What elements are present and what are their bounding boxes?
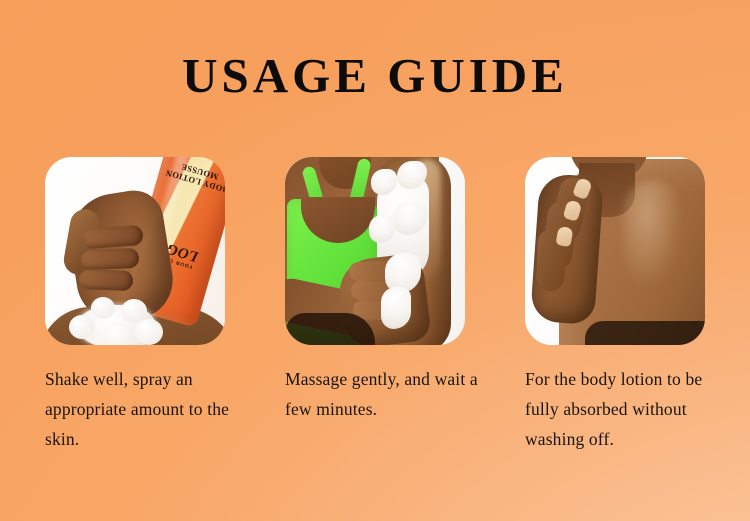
shadow-area <box>285 313 375 345</box>
finger <box>82 225 143 249</box>
step-3-photo <box>525 157 705 345</box>
garment-edge <box>585 321 705 345</box>
step-1-caption: Shake well, spray an appropriate amount … <box>45 364 250 454</box>
finger <box>81 248 140 270</box>
skin-sheen <box>623 181 683 291</box>
step-3-caption: For the body lotion to be fully absorbed… <box>525 364 740 454</box>
foam-dispensed <box>77 305 155 345</box>
step-card-1: BODY LOTION MOUSSE YOUR LOGO LOGO <box>45 157 225 454</box>
step-card-3: For the body lotion to be fully absorbed… <box>525 157 705 454</box>
step-1-photo: BODY LOTION MOUSSE YOUR LOGO LOGO <box>45 157 225 345</box>
step-2-caption: Massage gently, and wait a few minutes. <box>285 364 490 424</box>
steps-row: BODY LOTION MOUSSE YOUR LOGO LOGO <box>45 157 705 454</box>
mousse-blob <box>381 287 411 329</box>
step-card-2: Massage gently, and wait a few minutes. <box>285 157 465 454</box>
usage-guide-poster: USAGE GUIDE BODY LOTION MOUSSE YOUR LOGO… <box>0 0 750 521</box>
page-title: USAGE GUIDE <box>0 50 750 101</box>
step-2-photo <box>285 157 465 345</box>
finger <box>79 269 134 291</box>
